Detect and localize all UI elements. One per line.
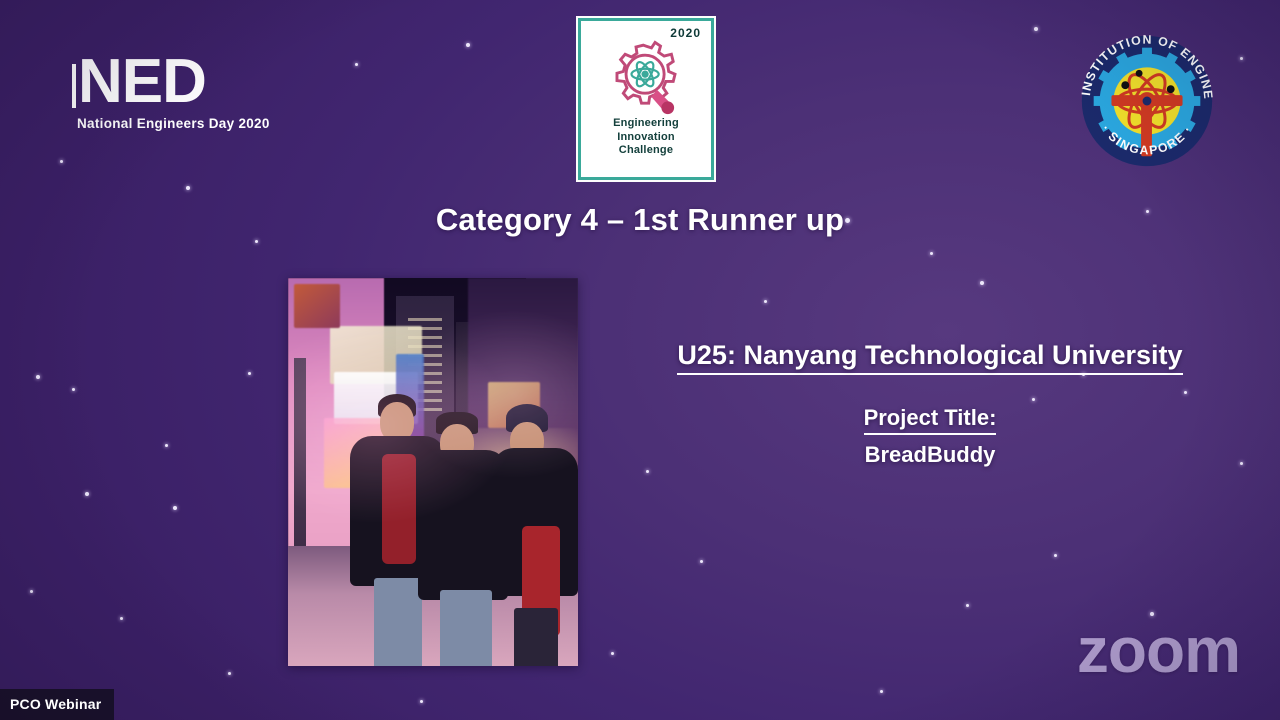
star-dot [60, 160, 63, 163]
eic-line-2: Innovation [613, 131, 679, 145]
eic-title-text: Engineering Innovation Challenge [613, 117, 679, 158]
ned-bar-decoration [72, 64, 76, 108]
zoom-watermark: zoom [1077, 618, 1240, 682]
star-dot [466, 43, 470, 47]
team-photo [288, 278, 578, 666]
star-dot [355, 63, 358, 66]
star-dot [1184, 391, 1187, 394]
star-dot [1240, 57, 1243, 60]
star-dot [72, 388, 75, 391]
star-dot [173, 506, 177, 510]
star-dot [186, 186, 190, 190]
page-title: Category 4 – 1st Runner up [0, 202, 1280, 238]
project-title-label: Project Title: [864, 405, 997, 435]
ned-logo: NED National Engineers Day 2020 [68, 50, 273, 145]
star-dot [228, 672, 231, 675]
gear-atom-icon [600, 37, 692, 115]
star-dot [120, 617, 123, 620]
star-dot [930, 252, 933, 255]
star-dot [1034, 27, 1038, 31]
star-dot [165, 444, 168, 447]
star-dot [1032, 398, 1035, 401]
presentation-slide: NED National Engineers Day 2020 2020 Eng… [0, 0, 1280, 720]
star-dot [611, 652, 614, 655]
team-university-text: U25: Nanyang Technological University [677, 340, 1182, 375]
ned-tagline: National Engineers Day 2020 [68, 116, 273, 131]
engineering-innovation-challenge-logo: 2020 Engineering Innovation Challenge [578, 18, 714, 180]
ned-wordmark-text: NED [78, 47, 206, 116]
eic-line-3: Challenge [613, 144, 679, 158]
star-dot [255, 240, 258, 243]
star-dot [85, 492, 89, 496]
star-dot [30, 590, 33, 593]
institution-of-engineers-singapore-logo: THE INSTITUTION OF ENGINEERS · SINGAPORE… [1068, 22, 1226, 180]
star-dot [646, 470, 649, 473]
eic-line-1: Engineering [613, 117, 679, 131]
star-dot [420, 700, 423, 703]
team-university-line: U25: Nanyang Technological University [600, 340, 1260, 371]
project-title-value: BreadBuddy [600, 442, 1260, 468]
star-dot [36, 375, 40, 379]
status-badge: PCO Webinar [0, 689, 114, 720]
star-dot [1054, 554, 1057, 557]
star-dot [248, 372, 251, 375]
star-dot [764, 300, 767, 303]
photo-neon-glow [288, 278, 578, 666]
eic-year-label: 2020 [670, 26, 701, 40]
star-dot [980, 281, 984, 285]
star-dot [966, 604, 969, 607]
star-dot [700, 560, 703, 563]
ned-wordmark: NED [68, 50, 273, 114]
star-dot [880, 690, 883, 693]
project-title-block: Project Title: BreadBuddy [600, 405, 1260, 468]
